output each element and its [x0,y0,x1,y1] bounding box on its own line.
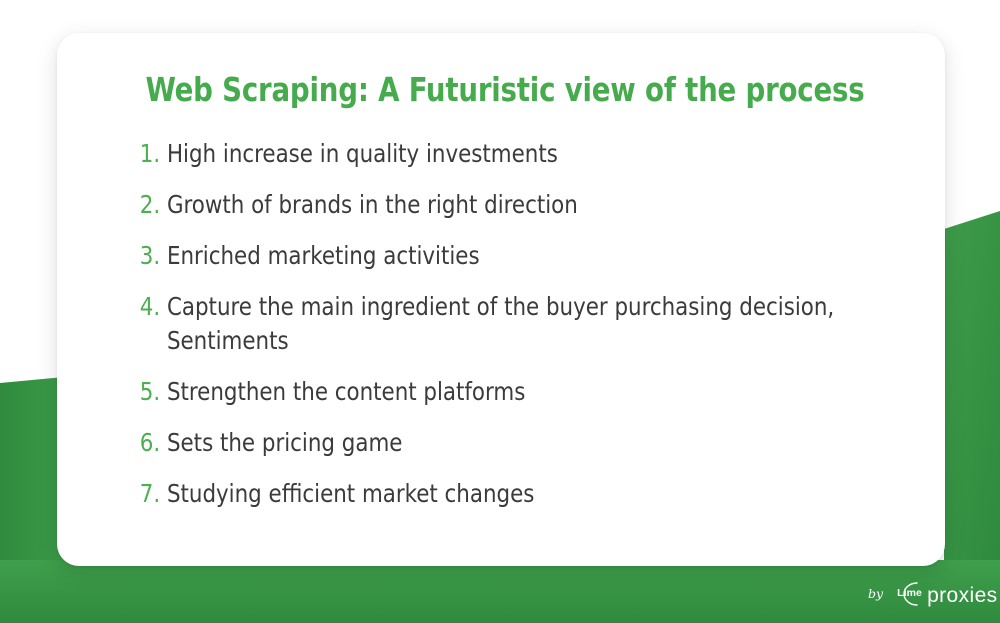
infographic-canvas: Web Scraping: A Futuristic view of the p… [0,0,1000,623]
lime-circle-icon: Lime [886,578,926,610]
list-item: 4. Capture the main ingredient of the bu… [133,290,899,358]
benefits-list: 1. High increase in quality investments … [133,137,923,528]
right-green-block [944,211,1000,560]
logo-lime-text: Lime [897,588,922,599]
list-item-number: 6. [133,426,160,460]
list-item-label: Enriched marketing activities [167,239,846,273]
list-item-label: Sets the pricing game [167,426,846,460]
list-item-number: 5. [133,375,160,409]
list-item-number: 2. [133,188,160,222]
list-item: 6. Sets the pricing game [133,426,899,460]
list-item: 5. Strengthen the content platforms [133,375,899,409]
content-card: Web Scraping: A Futuristic view of the p… [57,33,945,566]
list-item-number: 3. [133,239,160,273]
page-title: Web Scraping: A Futuristic view of the p… [128,70,881,109]
logo-by-text: by [868,588,883,601]
list-item-number: 1. [133,137,160,171]
list-item-label: Strengthen the content platforms [167,375,846,409]
list-item: 7. Studying efficient market changes [133,477,899,511]
limeproxies-logo: by Lime proxies [868,578,998,610]
list-item-label: Capture the main ingredient of the buyer… [167,290,836,358]
list-item-number: 4. [133,290,160,324]
list-item: 3. Enriched marketing activities [133,239,899,273]
list-item-label: High increase in quality investments [167,137,846,171]
bottom-green-band [0,560,1000,623]
list-item-label: Growth of brands in the right direction [167,188,846,222]
list-item-number: 7. [133,477,160,511]
logo-proxies-text: proxies [927,585,998,606]
list-item: 2. Growth of brands in the right directi… [133,188,899,222]
list-item-label: Studying efficient market changes [167,477,846,511]
list-item: 1. High increase in quality investments [133,137,899,171]
